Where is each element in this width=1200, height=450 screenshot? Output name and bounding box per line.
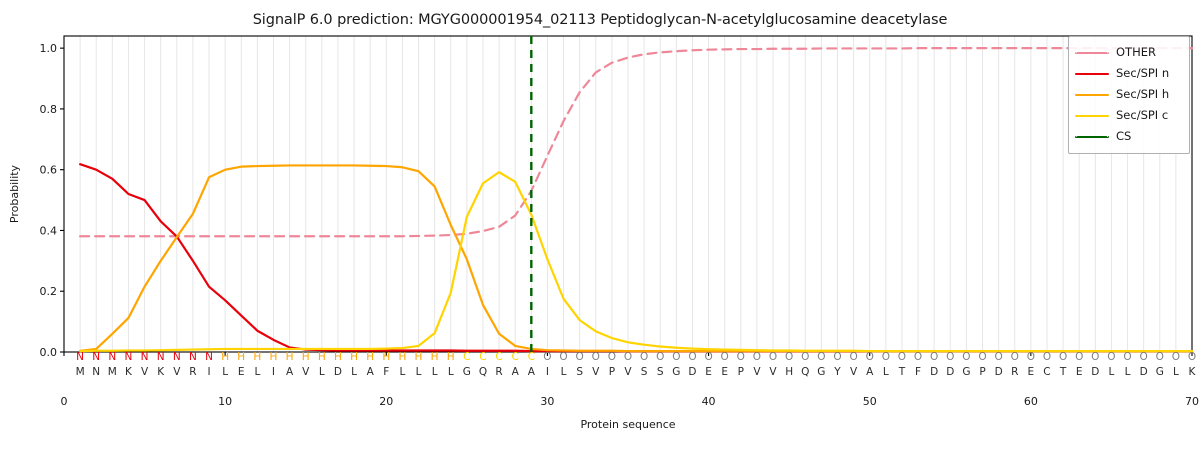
region-letter: O bbox=[688, 351, 696, 363]
region-letter: O bbox=[624, 351, 632, 363]
legend-swatch-sec-spi-c-icon bbox=[1075, 110, 1109, 122]
residue-letter: P bbox=[979, 366, 985, 378]
residue-letter: G bbox=[817, 366, 825, 378]
residue-letter: D bbox=[334, 366, 342, 378]
residue-letter: K bbox=[157, 366, 165, 378]
region-letter: O bbox=[1043, 351, 1051, 363]
region-letter: O bbox=[930, 351, 938, 363]
residue-letter: D bbox=[1091, 366, 1099, 378]
region-letter: O bbox=[1027, 351, 1035, 363]
legend-item-sec-spi-c[interactable]: Sec/SPI c bbox=[1075, 105, 1183, 126]
legend-label-sec-spi-h: Sec/SPI h bbox=[1116, 89, 1169, 101]
region-letter: O bbox=[914, 351, 922, 363]
residue-letter: E bbox=[1028, 366, 1035, 378]
region-letter: H bbox=[221, 351, 229, 363]
residue-letter: L bbox=[561, 366, 567, 378]
region-letter: H bbox=[350, 351, 358, 363]
region-letter: H bbox=[270, 351, 278, 363]
region-letter: C bbox=[528, 351, 535, 363]
region-letter: O bbox=[640, 351, 648, 363]
region-letter: O bbox=[833, 351, 841, 363]
series-line-other bbox=[80, 48, 1192, 236]
svg-text:0.8: 0.8 bbox=[40, 103, 58, 116]
figure-root: SignalP 6.0 prediction: MGYG000001954_02… bbox=[0, 0, 1200, 450]
region-letter: N bbox=[92, 351, 100, 363]
legend-label-cs: CS bbox=[1116, 131, 1131, 143]
legend-swatch-other-icon bbox=[1075, 47, 1109, 59]
region-letter: N bbox=[157, 351, 165, 363]
svg-text:20: 20 bbox=[379, 395, 393, 408]
plot-area: 0.00.20.40.60.81.0010203040506070Protein… bbox=[0, 0, 1200, 450]
residue-letter: I bbox=[272, 366, 275, 378]
region-letter: H bbox=[431, 351, 439, 363]
region-letter: C bbox=[463, 351, 470, 363]
svg-text:0.4: 0.4 bbox=[40, 224, 58, 237]
region-letter: C bbox=[512, 351, 519, 363]
region-letter: N bbox=[189, 351, 197, 363]
residue-letter: S bbox=[576, 366, 583, 378]
y-axis-ticks: 0.00.20.40.60.81.0 bbox=[40, 42, 65, 359]
x-axis-label: Protein sequence bbox=[580, 418, 675, 431]
region-letter: H bbox=[302, 351, 310, 363]
residue-letter: L bbox=[399, 366, 405, 378]
residue-letter: L bbox=[1108, 366, 1114, 378]
residue-letter: L bbox=[222, 366, 228, 378]
region-letter: N bbox=[76, 351, 84, 363]
region-letter: O bbox=[559, 351, 567, 363]
region-letter: H bbox=[334, 351, 342, 363]
region-letter: H bbox=[253, 351, 261, 363]
region-letter: O bbox=[1188, 351, 1196, 363]
region-letter: O bbox=[801, 351, 809, 363]
svg-text:0.6: 0.6 bbox=[40, 164, 58, 177]
region-letter: O bbox=[785, 351, 793, 363]
region-letter: O bbox=[1011, 351, 1019, 363]
region-letter: O bbox=[994, 351, 1002, 363]
residue-letter: A bbox=[286, 366, 294, 378]
residue-letter: S bbox=[641, 366, 648, 378]
region-letter: N bbox=[205, 351, 213, 363]
region-letter: O bbox=[962, 351, 970, 363]
residue-letter: L bbox=[1125, 366, 1131, 378]
region-letter: C bbox=[479, 351, 486, 363]
svg-text:30: 30 bbox=[540, 395, 554, 408]
region-letter: H bbox=[318, 351, 326, 363]
legend-label-other: OTHER bbox=[1116, 47, 1156, 59]
residue-letter: A bbox=[528, 366, 536, 378]
chart-legend: OTHER Sec/SPI n Sec/SPI h Sec/SPI c CS bbox=[1068, 36, 1190, 154]
region-letter: O bbox=[608, 351, 616, 363]
residue-letter: D bbox=[1140, 366, 1148, 378]
region-letter: O bbox=[753, 351, 761, 363]
legend-item-sec-spi-n[interactable]: Sec/SPI n bbox=[1075, 63, 1183, 84]
svg-text:60: 60 bbox=[1024, 395, 1038, 408]
residue-letter: V bbox=[769, 366, 777, 378]
svg-text:70: 70 bbox=[1185, 395, 1199, 408]
residue-letter: G bbox=[1156, 366, 1164, 378]
series-line-sec-spi-c bbox=[80, 172, 1192, 351]
residue-letter: G bbox=[463, 366, 471, 378]
legend-label-sec-spi-c: Sec/SPI c bbox=[1116, 110, 1168, 122]
region-letter: O bbox=[656, 351, 664, 363]
residue-letter: D bbox=[946, 366, 954, 378]
series-line-sec-spi-n bbox=[80, 164, 1192, 351]
residue-letter: Q bbox=[801, 366, 809, 378]
residue-letter: V bbox=[173, 366, 181, 378]
residue-letter: F bbox=[915, 366, 921, 378]
residue-letter: K bbox=[125, 366, 133, 378]
residue-letter: V bbox=[753, 366, 761, 378]
svg-text:40: 40 bbox=[702, 395, 716, 408]
svg-text:0: 0 bbox=[61, 395, 68, 408]
residue-letter: P bbox=[738, 366, 744, 378]
residue-letter: R bbox=[495, 366, 502, 378]
region-letter: N bbox=[108, 351, 116, 363]
y-axis-label: Probability bbox=[8, 164, 21, 223]
region-letter: H bbox=[382, 351, 390, 363]
residue-letter: D bbox=[995, 366, 1003, 378]
region-letter: O bbox=[721, 351, 729, 363]
region-annotation-row: NNNNNNNNNHHHHHHHHHHHHHHHCCCCCOOOOOOOOOOO… bbox=[76, 351, 1196, 363]
residue-letter: C bbox=[1043, 366, 1050, 378]
region-letter: N bbox=[125, 351, 133, 363]
region-letter: O bbox=[849, 351, 857, 363]
legend-item-other[interactable]: OTHER bbox=[1075, 42, 1183, 63]
residue-letter: M bbox=[108, 366, 117, 378]
region-letter: O bbox=[1107, 351, 1115, 363]
svg-text:50: 50 bbox=[863, 395, 877, 408]
residue-letter: L bbox=[448, 366, 454, 378]
residue-letter: N bbox=[92, 366, 100, 378]
residue-letter: F bbox=[383, 366, 389, 378]
grid-lines bbox=[80, 36, 1192, 352]
legend-swatch-cs-icon bbox=[1075, 131, 1109, 143]
region-letter: O bbox=[1156, 351, 1164, 363]
region-letter: H bbox=[447, 351, 455, 363]
residue-letter: I bbox=[207, 366, 210, 378]
legend-swatch-sec-spi-n-icon bbox=[1075, 68, 1109, 80]
region-letter: O bbox=[946, 351, 954, 363]
svg-text:0.2: 0.2 bbox=[40, 285, 58, 298]
residue-letter: P bbox=[609, 366, 615, 378]
residue-letter: G bbox=[962, 366, 970, 378]
residue-letter: K bbox=[1189, 366, 1197, 378]
residue-letter: I bbox=[546, 366, 549, 378]
region-letter: N bbox=[173, 351, 181, 363]
region-letter: O bbox=[1059, 351, 1067, 363]
residue-letter: A bbox=[512, 366, 520, 378]
region-letter: O bbox=[1172, 351, 1180, 363]
residue-letter: S bbox=[657, 366, 664, 378]
region-letter: O bbox=[866, 351, 874, 363]
svg-text:0.0: 0.0 bbox=[40, 346, 58, 359]
region-letter: O bbox=[882, 351, 890, 363]
series-line-sec-spi-h bbox=[80, 165, 1192, 351]
svg-text:10: 10 bbox=[218, 395, 232, 408]
svg-text:1.0: 1.0 bbox=[40, 42, 58, 55]
region-letter: O bbox=[704, 351, 712, 363]
residue-letter: L bbox=[351, 366, 357, 378]
region-letter: H bbox=[398, 351, 406, 363]
residue-letter: A bbox=[866, 366, 874, 378]
residue-letter: G bbox=[672, 366, 680, 378]
region-letter: O bbox=[543, 351, 551, 363]
region-letter: H bbox=[237, 351, 245, 363]
sequence-row: MNMKVKVRILELIAVLDLAFLLLLGQRAAILSVPVSSGDE… bbox=[76, 366, 1197, 378]
region-letter: O bbox=[978, 351, 986, 363]
region-letter: O bbox=[1140, 351, 1148, 363]
residue-letter: D bbox=[930, 366, 938, 378]
region-letter: O bbox=[672, 351, 680, 363]
residue-letter: E bbox=[1076, 366, 1083, 378]
region-letter: H bbox=[286, 351, 294, 363]
residue-letter: V bbox=[141, 366, 149, 378]
region-letter: O bbox=[1091, 351, 1099, 363]
region-letter: O bbox=[1123, 351, 1131, 363]
residue-letter: V bbox=[592, 366, 600, 378]
residue-letter: E bbox=[721, 366, 728, 378]
residue-letter: D bbox=[688, 366, 696, 378]
region-letter: O bbox=[898, 351, 906, 363]
residue-letter: A bbox=[367, 366, 375, 378]
residue-letter: L bbox=[319, 366, 325, 378]
residue-letter: Y bbox=[833, 366, 841, 378]
residue-letter: L bbox=[1173, 366, 1179, 378]
residue-letter: R bbox=[1011, 366, 1018, 378]
residue-letter: L bbox=[254, 366, 260, 378]
residue-letter: T bbox=[898, 366, 906, 378]
residue-letter: V bbox=[850, 366, 858, 378]
residue-letter: V bbox=[624, 366, 632, 378]
region-letter: O bbox=[769, 351, 777, 363]
region-letter: O bbox=[576, 351, 584, 363]
residue-letter: E bbox=[238, 366, 245, 378]
legend-label-sec-spi-n: Sec/SPI n bbox=[1116, 68, 1169, 80]
residue-letter: V bbox=[302, 366, 310, 378]
region-letter: H bbox=[415, 351, 423, 363]
residue-letter: L bbox=[432, 366, 438, 378]
region-letter: N bbox=[141, 351, 149, 363]
region-letter: O bbox=[737, 351, 745, 363]
residue-letter: Q bbox=[479, 366, 487, 378]
region-letter: H bbox=[366, 351, 374, 363]
residue-letter: L bbox=[416, 366, 422, 378]
region-letter: O bbox=[817, 351, 825, 363]
residue-letter: R bbox=[189, 366, 196, 378]
region-letter: C bbox=[495, 351, 502, 363]
residue-letter: H bbox=[785, 366, 793, 378]
residue-letter: L bbox=[883, 366, 889, 378]
legend-item-cs[interactable]: CS bbox=[1075, 126, 1183, 147]
residue-letter: E bbox=[705, 366, 712, 378]
residue-letter: M bbox=[76, 366, 85, 378]
region-letter: O bbox=[592, 351, 600, 363]
legend-swatch-sec-spi-h-icon bbox=[1075, 89, 1109, 101]
signalp-chart: 0.00.20.40.60.81.0010203040506070Protein… bbox=[0, 0, 1200, 450]
region-letter: O bbox=[1075, 351, 1083, 363]
legend-item-sec-spi-h[interactable]: Sec/SPI h bbox=[1075, 84, 1183, 105]
residue-letter: T bbox=[1059, 366, 1067, 378]
